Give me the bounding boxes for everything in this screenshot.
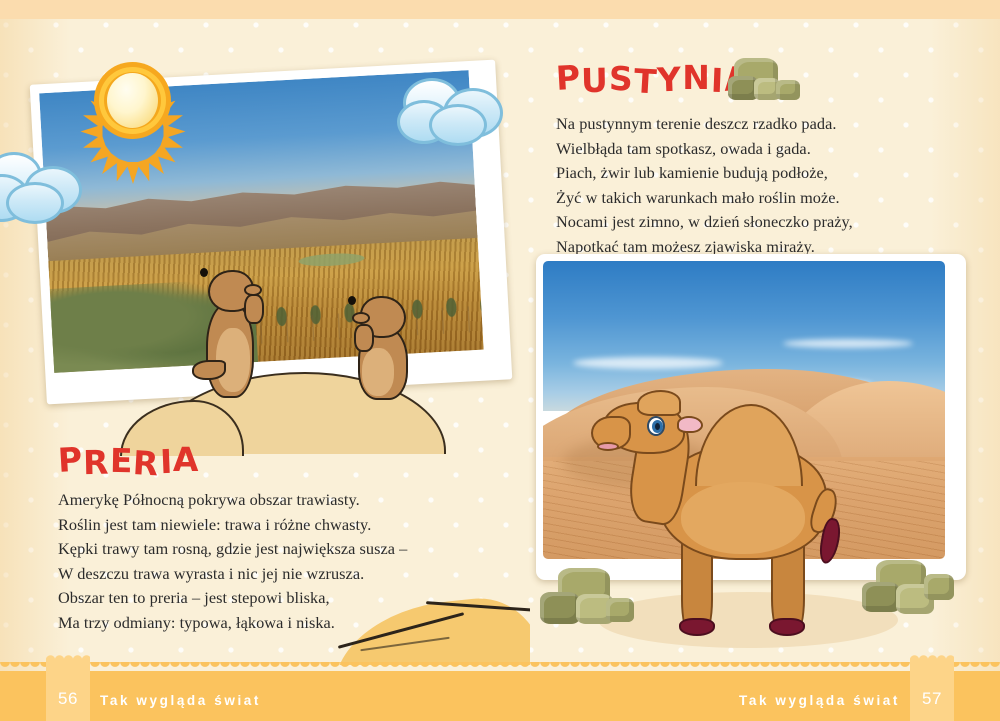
page-title-pustynia: PUSTYNIA xyxy=(556,60,751,99)
prairie-dog-illustration xyxy=(200,268,270,398)
rocks-icon xyxy=(862,560,958,628)
poem-pustynia: Na pustynnym terenie deszcz rzadko pada.… xyxy=(556,112,853,260)
cloud-icon xyxy=(395,72,507,148)
prairie-dog-snout xyxy=(352,312,370,324)
cloud-icon xyxy=(0,148,86,226)
prairie-dog-eye xyxy=(200,268,208,277)
photo-cloud xyxy=(573,357,723,369)
camel-hoof xyxy=(769,618,805,636)
footer-title-right: Tak wygląda świat xyxy=(739,693,900,708)
poem-line: Na pustynnym terenie deszcz rzadko pada. xyxy=(556,112,853,137)
page-title-preria: PRERIA xyxy=(58,442,199,481)
prairie-dog-eye xyxy=(348,296,356,305)
cloud-lobe xyxy=(429,104,487,146)
poem-line: Amerykę Północną pokrywa obszar trawiast… xyxy=(58,488,407,513)
prairie-dog-paw xyxy=(354,324,374,352)
camel-ear xyxy=(677,416,703,433)
title-letter: N xyxy=(682,58,711,97)
poem-line: Żyć w takich warunkach mało roślin może. xyxy=(556,186,853,211)
footer-title-left: Tak wygląda świat xyxy=(100,693,261,708)
sand-dune-illustration xyxy=(330,585,530,665)
rock-shape xyxy=(776,80,800,100)
title-letter: P xyxy=(57,440,84,480)
title-letter: R xyxy=(132,443,161,483)
camel-mouth xyxy=(597,442,619,451)
title-letter: Y xyxy=(657,60,683,100)
prairie-dog-tail xyxy=(192,360,226,380)
rocks-icon xyxy=(728,56,804,106)
rock-shape xyxy=(606,598,634,622)
camel-forelock xyxy=(637,390,681,416)
poem-line: Nocami jest zimno, w dzień słoneczko pra… xyxy=(556,210,853,235)
page-title-text: PRERIA xyxy=(58,442,199,481)
page-number-right: 57 xyxy=(910,689,954,709)
prairie-dog-illustration xyxy=(348,296,418,400)
camel-hump xyxy=(695,404,803,486)
poem-line: W deszczu trawa wyrasta i nic jej nie wz… xyxy=(58,562,407,587)
title-letter: S xyxy=(609,59,635,98)
page-number-left: 56 xyxy=(46,689,90,709)
cloud-lobe xyxy=(6,182,64,224)
photo-cloud xyxy=(783,339,913,348)
title-letter: R xyxy=(83,443,110,483)
camel-eye-pupil xyxy=(655,423,660,430)
prairie-dog-paw xyxy=(244,294,264,324)
sun-icon xyxy=(80,48,185,153)
title-letter: A xyxy=(173,440,200,479)
prairie-dog-belly xyxy=(362,348,394,396)
page-title-text: PUSTYNIA xyxy=(556,60,751,99)
footer-scallop-edge xyxy=(0,662,1000,671)
camel-hoof xyxy=(679,618,715,636)
top-band xyxy=(0,0,1000,19)
rocks-icon xyxy=(540,568,636,634)
book-page-spread: PRERIA Amerykę Północną pokrywa obszar t… xyxy=(0,0,1000,721)
rock-shape xyxy=(540,592,580,624)
title-letter: P xyxy=(555,58,582,98)
sun-core xyxy=(107,73,158,128)
rock-shape xyxy=(862,582,900,612)
poem-line: Piach, żwir lub kamienie budują podłoże, xyxy=(556,161,853,186)
poem-line: Roślin jest tam niewiele: trawa i różne … xyxy=(58,513,407,538)
poem-line: Wielbłąda tam spotkasz, owada i gada. xyxy=(556,137,853,162)
rock-shape xyxy=(924,574,954,600)
title-letter: U xyxy=(581,61,610,101)
poem-line: Kępki trawy tam rosną, gdzie jest najwię… xyxy=(58,537,407,562)
title-letter: E xyxy=(109,441,133,480)
title-letter: T xyxy=(633,61,659,101)
title-letter: I xyxy=(159,442,174,481)
camel-belly xyxy=(681,482,805,554)
